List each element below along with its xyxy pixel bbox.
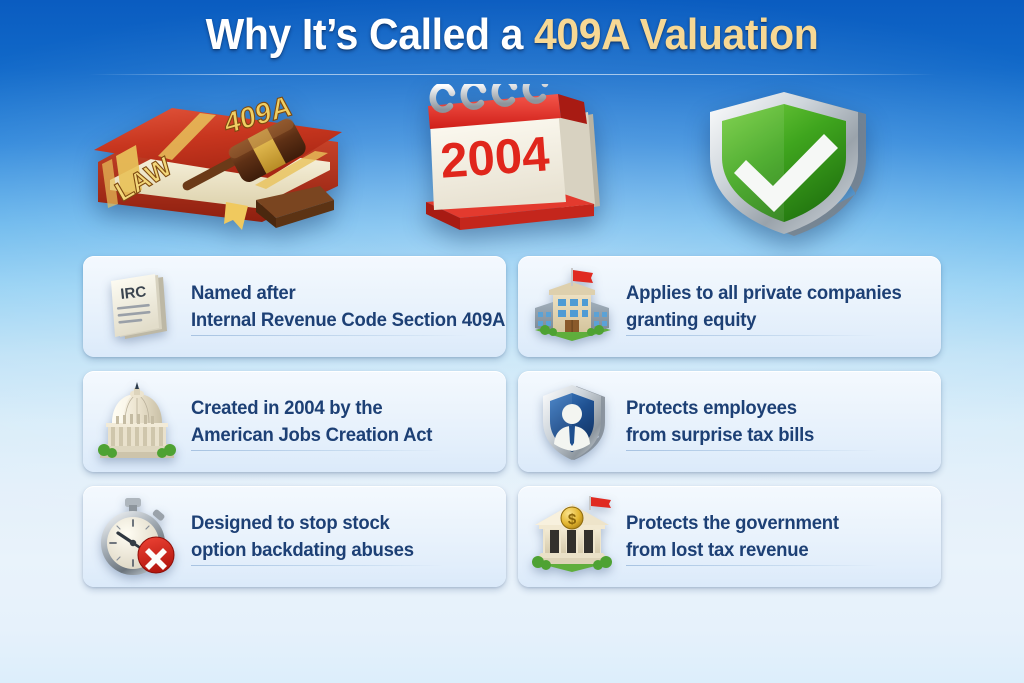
fact-card-line1: Designed to stop stock bbox=[191, 510, 477, 537]
fact-card[interactable]: Protects employees from surprise tax bil… bbox=[518, 371, 941, 472]
fact-card-line2: option backdating abuses bbox=[191, 537, 477, 564]
fact-card-line1: Protects the government bbox=[626, 510, 912, 537]
svg-text:2004: 2004 bbox=[439, 127, 552, 188]
law-book-gavel-icon: 409A LAW LAW bbox=[80, 90, 355, 240]
stopwatch-red-x-icon bbox=[83, 486, 191, 587]
fact-card-text: Named after Internal Revenue Code Sectio… bbox=[191, 280, 506, 334]
fact-card-text: Protects the government from lost tax re… bbox=[626, 510, 941, 564]
fact-card-line1: Created in 2004 by the bbox=[191, 395, 477, 422]
fact-card-line1: Protects employees bbox=[626, 395, 912, 422]
blue-shield-person-icon bbox=[518, 371, 626, 472]
fact-card-line1: Named after bbox=[191, 280, 505, 307]
fact-card-text: Applies to all private companies grantin… bbox=[626, 280, 941, 334]
page-title-primary: Why It’s Called a bbox=[206, 10, 534, 59]
fact-card-text: Created in 2004 by the American Jobs Cre… bbox=[191, 395, 506, 449]
fact-card-text: Designed to stop stock option backdating… bbox=[191, 510, 506, 564]
fact-card[interactable]: IRC Named after Internal Revenue Code Se… bbox=[83, 256, 506, 357]
svg-text:IRC: IRC bbox=[120, 283, 148, 303]
bank-dollar-flag-icon: $ bbox=[518, 486, 626, 587]
fact-card[interactable]: Applies to all private companies grantin… bbox=[518, 256, 941, 357]
green-shield-check-icon bbox=[688, 84, 880, 242]
fact-card-line2: Internal Revenue Code Section 409A bbox=[191, 307, 505, 334]
page-title-highlight: 409A Valuation bbox=[534, 10, 818, 59]
fact-card[interactable]: Created in 2004 by the American Jobs Cre… bbox=[83, 371, 506, 472]
irc-document-icon: IRC bbox=[83, 256, 191, 357]
svg-text:$: $ bbox=[568, 511, 577, 528]
capitol-dome-icon bbox=[83, 371, 191, 472]
calendar-2004-icon: 2004 bbox=[408, 84, 623, 240]
title-divider bbox=[88, 74, 936, 75]
fact-card[interactable]: Designed to stop stock option backdating… bbox=[83, 486, 506, 587]
fact-card-line2: from lost tax revenue bbox=[626, 537, 912, 564]
fact-card-text: Protects employees from surprise tax bil… bbox=[626, 395, 941, 449]
fact-card-line2: granting equity bbox=[626, 307, 912, 334]
page-title: Why It’s Called a 409A Valuation bbox=[0, 12, 1024, 58]
fact-card-line1: Applies to all private companies bbox=[626, 280, 912, 307]
fact-card-line2: from surprise tax bills bbox=[626, 422, 912, 449]
fact-card[interactable]: $ Protects the government from lost tax … bbox=[518, 486, 941, 587]
hero-icon-row: 409A LAW LAW bbox=[0, 84, 1024, 244]
fact-card-grid: IRC Named after Internal Revenue Code Se… bbox=[83, 256, 941, 587]
office-building-flag-icon bbox=[518, 256, 626, 357]
fact-card-line2: American Jobs Creation Act bbox=[191, 422, 477, 449]
